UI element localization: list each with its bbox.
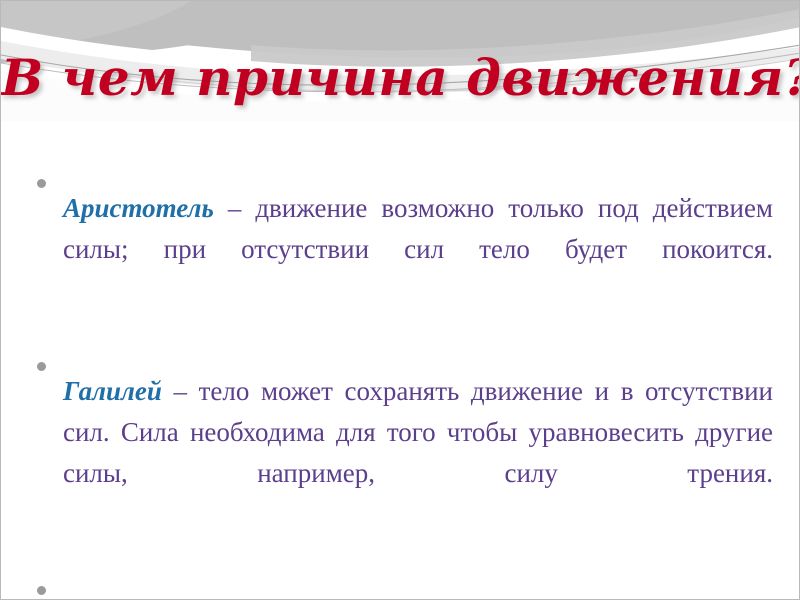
person-name: Аристотель [63, 193, 214, 223]
slide-title: В чем причина движения? [1, 53, 800, 103]
bullet-dot-icon [37, 344, 63, 376]
presentation-slide: В чем причина движения? Аристотель – дви… [0, 0, 800, 600]
list-item: Галилей – тело может сохранять движение … [37, 344, 773, 562]
bullet-text: Галилей – тело может сохранять движение … [63, 371, 773, 535]
name-separator-dash [214, 193, 228, 223]
bullet-text: Аристотель – движение возможно только по… [63, 188, 773, 311]
person-name: Галилей [63, 376, 162, 406]
slide-body: Аристотель – движение возможно только по… [37, 161, 773, 600]
bullet-dot-icon [37, 568, 63, 600]
list-item: Ньютон – сформулировал законы движения. [37, 568, 773, 600]
bullet-text: Ньютон – сформулировал законы движения. [63, 595, 773, 600]
bullet-dot-icon [37, 161, 63, 193]
list-item: Аристотель – движение возможно только по… [37, 161, 773, 338]
name-separator-dash [162, 376, 174, 406]
